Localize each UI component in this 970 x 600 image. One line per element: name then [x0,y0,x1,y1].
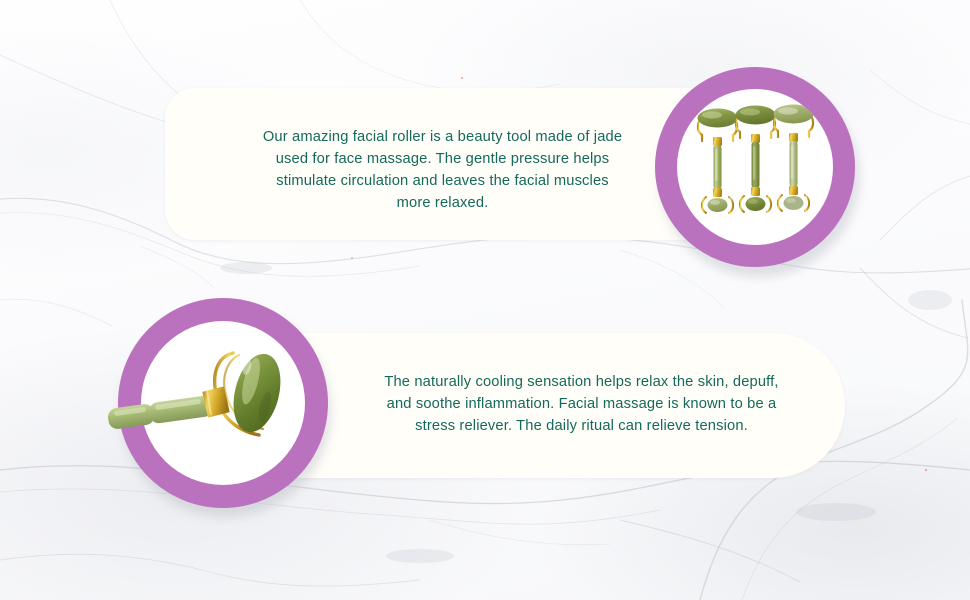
three-jade-rollers-icon [677,89,833,245]
text-panel-top: Our amazing facial roller is a beauty to… [165,88,720,240]
image-medallion-roller-closeup [118,298,328,508]
jade-roller-closeup-icon [141,321,305,485]
image-medallion-three-rollers [655,67,855,267]
medallion-photo-area [141,321,305,485]
promo-banner: Our amazing facial roller is a beauty to… [0,0,970,600]
medallion-photo-area [677,89,833,245]
panel-top-text: Our amazing facial roller is a beauty to… [203,126,682,214]
panel-bottom-text: The naturally cooling sensation helps re… [370,371,793,437]
